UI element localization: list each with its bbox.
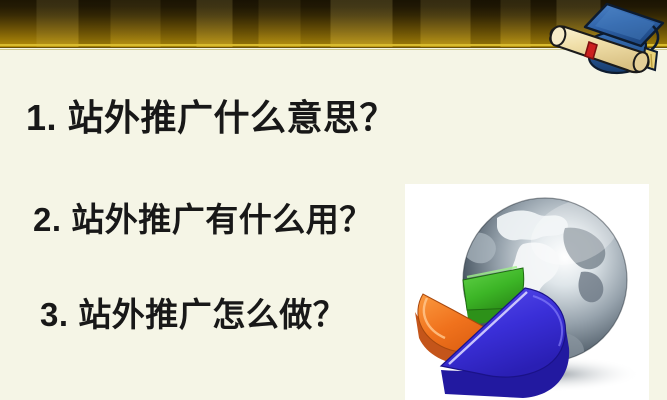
question-line-3: 3. 站外推广怎么做？ [40, 288, 346, 336]
slide-canvas: 1. 站外推广什么意思？ 2. 站外推广有什么用？ 3. 站外推广怎么做？ [0, 0, 667, 400]
globe-pie-chart-image [405, 184, 649, 400]
graduation-cap-icon [545, 0, 667, 104]
question-line-1: 1. 站外推广什么意思？ [26, 89, 396, 141]
question-line-2: 2. 站外推广有什么用？ [33, 193, 373, 241]
